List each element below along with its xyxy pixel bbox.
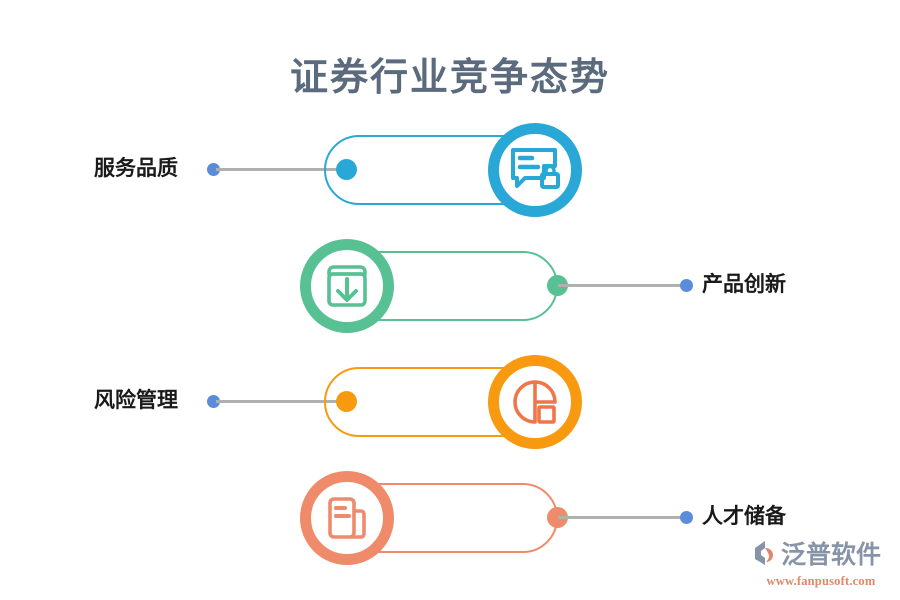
fanpu-logo-icon: [752, 540, 778, 571]
row-connector-line-2: [558, 284, 688, 287]
watermark-logo-row: 泛普软件: [752, 540, 892, 571]
row-endpoint-dot-2: [680, 279, 693, 292]
chat-lock-icon: [508, 145, 562, 195]
row-endpoint-dot-4: [680, 511, 693, 524]
row-label-3: 风险管理: [94, 384, 178, 414]
row-connector-line-4: [558, 516, 688, 519]
page-title: 证券行业竞争态势: [0, 46, 900, 101]
row-icon-ring-2[interactable]: [300, 239, 394, 333]
row-anchor-dot-3: [336, 391, 357, 412]
infographic-canvas: 证券行业竞争态势 服务品质: [0, 0, 900, 600]
row-icon-ring-4[interactable]: [300, 471, 394, 565]
row-label-2: 产品创新: [702, 268, 786, 298]
infographic-row-3: 风险管理: [0, 344, 900, 460]
row-icon-ring-1[interactable]: [488, 123, 582, 217]
watermark-name: 泛普软件: [781, 543, 881, 568]
infographic-row-2: 产品创新: [0, 228, 900, 344]
documents-icon: [322, 493, 372, 543]
row-label-4: 人才储备: [702, 500, 786, 530]
pie-chart-icon: [509, 376, 561, 428]
watermark: 泛普软件 www.fanpusoft.com: [752, 540, 892, 590]
archive-download-icon: [321, 260, 373, 312]
watermark-url: www.fanpusoft.com: [752, 574, 890, 589]
row-label-1: 服务品质: [94, 152, 178, 182]
infographic-row-1: 服务品质: [0, 112, 900, 228]
row-icon-ring-3[interactable]: [488, 355, 582, 449]
row-anchor-dot-1: [336, 159, 357, 180]
